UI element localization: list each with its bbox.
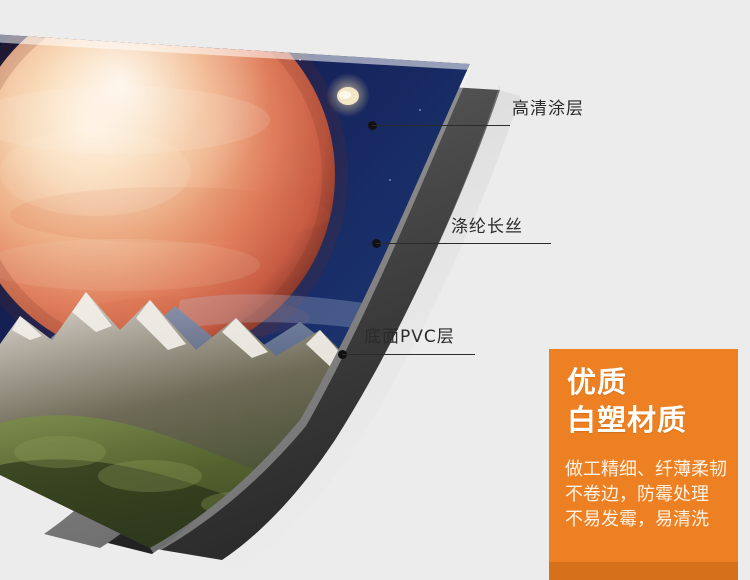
callout-leader-line <box>372 125 510 126</box>
panel-body-line-2: 不卷边，防霉处理 <box>565 482 727 507</box>
panel-heading-line-2: 白塑材质 <box>567 401 687 439</box>
feature-panel: 优质 白塑材质 做工精细、纤薄柔韧 不卷边，防霉处理 不易发霉，易清洗 <box>549 349 738 580</box>
panel-body-line-3: 不易发霉，易清洗 <box>565 507 727 532</box>
callout-label-coating: 高清涂层 <box>512 101 584 118</box>
panel-heading: 优质 白塑材质 <box>567 363 687 439</box>
panel-footer-strip <box>549 562 738 580</box>
promo-banner-canvas: 高清涂层 涤纶长丝 底面PVC层 优质 白塑材质 做工精细、纤薄柔韧 不卷边，防… <box>0 0 750 580</box>
panel-body: 做工精细、纤薄柔韧 不卷边，防霉处理 不易发霉，易清洗 <box>565 457 727 532</box>
panel-heading-line-1: 优质 <box>567 363 687 401</box>
callout-leader-line <box>342 354 475 355</box>
panel-body-line-1: 做工精细、纤薄柔韧 <box>565 457 727 482</box>
callout-label-filament: 涤纶长丝 <box>451 219 523 236</box>
callout-leader-line <box>376 243 551 244</box>
callout-label-pvc: 底面PVC层 <box>364 329 455 346</box>
